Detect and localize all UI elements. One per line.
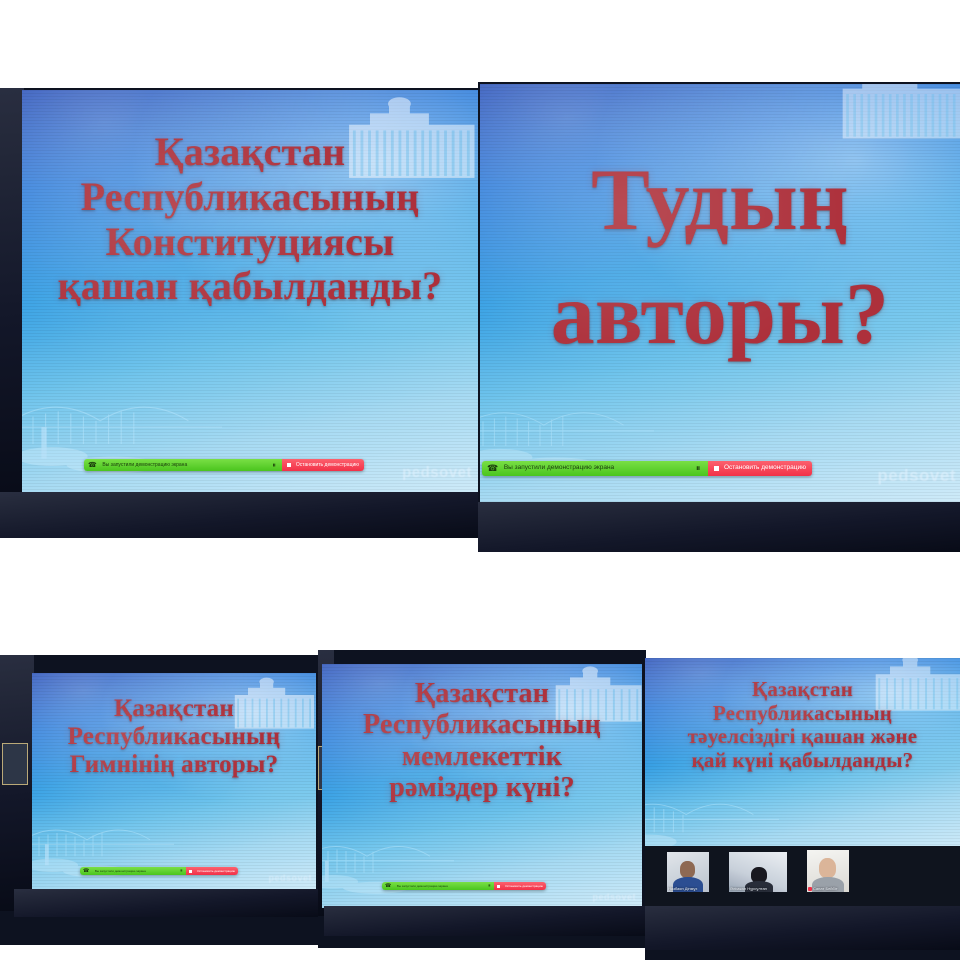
monitor-bezel-left (0, 88, 24, 508)
slide-question-3: Қазақстан Республикасының Гимнінің автор… (32, 695, 316, 779)
monitor-bezel-bottom-2 (478, 502, 960, 552)
participant-name: Назбаян Дінмұх (668, 887, 697, 891)
slide-surface-5: Қазақстан Республикасының тәуелсіздігі қ… (645, 658, 960, 850)
akorda-building-graphic (294, 96, 478, 182)
slide-surface-2: Тудың авторы? pedsovet ☎ Вы запустили де… (480, 84, 960, 504)
share-status-label: Вы запустили демонстрацию экрана (95, 870, 146, 873)
watermark-1: pedsovet (402, 464, 472, 481)
slide-question-2: Тудың авторы? (480, 144, 960, 373)
stop-share-button-3[interactable]: Остановить демонстрацию (186, 867, 238, 875)
monitor-bezel-bottom-3 (14, 889, 322, 917)
pause-icon: ⏸ (180, 869, 183, 874)
slide-question-1: Қазақстан Республикасының Конституциясы … (22, 130, 478, 309)
photo-collage: Қазақстан Республикасының Конституциясы … (0, 0, 960, 960)
participant-tile[interactable]: Санат Бейбіт (807, 850, 849, 892)
bridge-water-graphic (32, 787, 174, 891)
stop-square-icon (287, 463, 291, 467)
zoom-share-toolbar-2[interactable]: ☎ Вы запустили демонстрацию экрана ⏸ Ост… (482, 461, 812, 476)
akorda-building-graphic (790, 84, 960, 142)
pause-icon: ⏸ (696, 464, 701, 473)
stop-share-button-4[interactable]: Остановить демонстрацию (494, 882, 546, 890)
watermark-2: pedsovet (877, 466, 956, 486)
photo-panel-2: Тудың авторы? pedsovet ☎ Вы запустили де… (478, 82, 960, 552)
share-status-pill-2: ☎ Вы запустили демонстрацию экрана (482, 461, 688, 476)
participant-name-muted: Санат Бейбіт (808, 887, 838, 891)
zoom-share-toolbar-4[interactable]: ☎ Вы запустили демонстрацию экрана ⏸ Ост… (382, 882, 546, 890)
pause-share-button-2[interactable]: ⏸ (688, 461, 708, 476)
pause-icon: ⏸ (272, 462, 276, 469)
zoom-participant-strip: Назбаян Дінмұх Әлімжан Нұрсұлтан Санат Б… (645, 846, 960, 908)
pause-icon: ⏸ (488, 884, 491, 889)
watermark-3: pedsovet (268, 873, 312, 883)
slide-surface-1: Қазақстан Республикасының Конституциясы … (22, 90, 478, 495)
photo-panel-1: Қазақстан Республикасының Конституциясы … (0, 88, 478, 538)
participant-name: Әлімжан Нұрсұлтан (730, 887, 767, 891)
zoom-share-toolbar-3[interactable]: ☎ Вы запустили демонстрацию экрана ⏸ Ост… (80, 867, 238, 875)
pause-share-button-4[interactable]: ⏸ (484, 882, 494, 890)
slide-question-5: Қазақстан Республикасының тәуелсіздігі қ… (645, 678, 960, 772)
bridge-water-graphic (480, 358, 654, 498)
stop-share-button-1[interactable]: Остановить демонстрацию (282, 459, 364, 471)
phone-icon: ☎ (88, 462, 97, 469)
wall-frame-decor (2, 743, 28, 785)
slide-surface-4: Қазақстан Республикасының мемлекеттік рә… (322, 664, 642, 908)
stop-share-button-2[interactable]: Остановить демонстрацию (708, 461, 812, 476)
bridge-water-graphic (645, 758, 779, 850)
share-status-pill-1: ☎ Вы запустили демонстрацию экрана (84, 459, 266, 471)
stop-share-label: Остановить демонстрацию (197, 870, 235, 873)
photo-panel-5: Қазақстан Республикасының тәуелсіздігі қ… (645, 658, 960, 960)
participant-tile[interactable]: Назбаян Дінмұх (667, 852, 709, 892)
phone-icon: ☎ (385, 884, 391, 889)
zoom-share-toolbar-1[interactable]: ☎ Вы запустили демонстрацию экрана ⏸ Ост… (84, 459, 364, 471)
akorda-building-graphic (518, 664, 642, 726)
share-status-pill-3: ☎ Вы запустили демонстрацию экрана (80, 867, 176, 875)
share-status-label: Вы запустили демонстрацию экрана (102, 463, 187, 468)
monitor-bezel-bottom-1 (0, 492, 478, 538)
bridge-water-graphic (322, 801, 454, 908)
akorda-building-graphic (838, 658, 960, 714)
stop-share-label: Остановить демонстрацию (724, 465, 806, 472)
bridge-water-graphic (22, 349, 222, 495)
photo-panel-3: Қазақстан Республикасының Гимнінің автор… (0, 655, 322, 945)
phone-icon: ☎ (487, 464, 498, 473)
pause-share-button-3[interactable]: ⏸ (176, 867, 186, 875)
share-status-label: Вы запустили демонстрацию экрана (397, 885, 448, 888)
stop-square-icon (714, 466, 719, 471)
monitor-bezel-bottom-4 (324, 906, 646, 936)
stop-share-label: Остановить демонстрацию (505, 885, 543, 888)
share-status-pill-4: ☎ Вы запустили демонстрацию экрана (382, 882, 484, 890)
photo-panel-4: Қазақстан Республикасының мемлекеттік рә… (318, 650, 646, 948)
stop-square-icon (497, 885, 500, 888)
watermark-4: pedsovet (592, 892, 636, 902)
akorda-building-graphic (200, 675, 316, 733)
pause-share-button-1[interactable]: ⏸ (266, 459, 282, 471)
slide-surface-3: Қазақстан Республикасының Гимнінің автор… (32, 673, 316, 891)
slide-question-4: Қазақстан Республикасының мемлекеттік рә… (322, 678, 642, 803)
participant-tile[interactable]: Әлімжан Нұрсұлтан (729, 852, 787, 892)
stop-share-label: Остановить демонстрацию (296, 463, 359, 468)
stop-square-icon (189, 870, 192, 873)
monitor-bezel-bottom-5 (645, 906, 960, 950)
share-status-label: Вы запустили демонстрацию экрана (504, 465, 614, 472)
phone-icon: ☎ (83, 869, 89, 874)
mic-muted-icon (808, 887, 812, 891)
